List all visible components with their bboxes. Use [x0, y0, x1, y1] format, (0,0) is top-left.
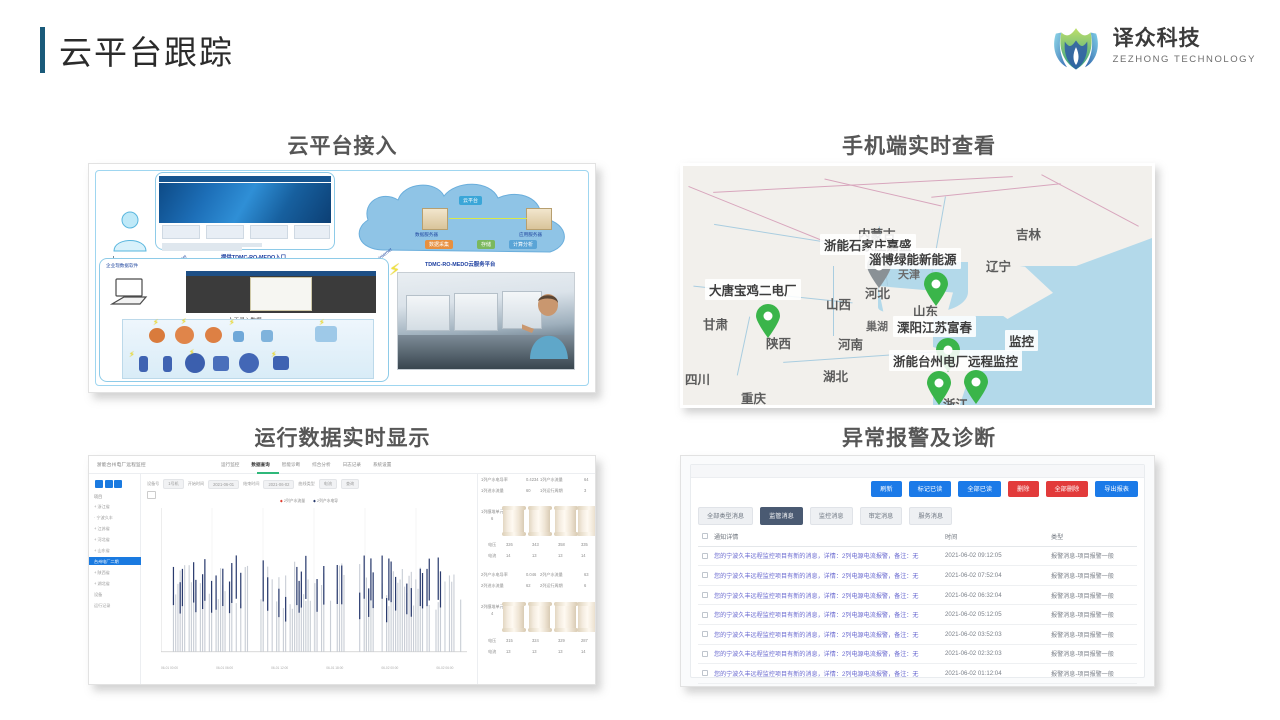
filter-type-select[interactable]: 电流 [319, 479, 337, 489]
metric-label-2: 1列进水流量 [481, 488, 504, 494]
tree-title: 项目 [94, 494, 102, 500]
chart-legend[interactable]: ◆ 2列产水流量 ◆ 2列产水电导 [280, 498, 338, 504]
table-header-row: 通知详情 时间 类型 [698, 527, 1137, 547]
row-detail-link[interactable]: 您的宁波久丰远程监控项目有新的消息，详情：2列电源电流报警，备注：无 [712, 551, 945, 560]
alarm-button-2[interactable]: 全部已读 [958, 481, 1001, 497]
stack2-current-3: 14 [581, 649, 586, 654]
chart-area: 设备号 1号机 开始时间 2021-06-01 结束时间 2021-06-02 … [141, 474, 477, 684]
enterprise-software-box: 企业现数据软件 人工录入数据 [99, 258, 389, 382]
stack1-voltage-0: 326 [506, 542, 513, 547]
stack2-current-1: 13 [532, 649, 537, 654]
row-type: 报警消息-项目报警一般 [1051, 649, 1137, 658]
table-row[interactable]: 您的宁波久丰远程监控项目有新的消息，详情：2列电源电流报警，备注：无2021-0… [698, 586, 1137, 606]
alarm-type-tabs[interactable]: 全部类型消息监管消息监控消息审定消息服务消息 [698, 507, 952, 525]
map-pin-icon-5[interactable] [926, 371, 952, 405]
sidebar-chip-2[interactable] [105, 480, 113, 488]
engineer-figure [522, 293, 568, 359]
row-checkbox-cell[interactable] [698, 651, 712, 657]
stack1-voltage-2: 358 [558, 542, 565, 547]
section-title-data: 运行数据实时显示 [85, 422, 600, 452]
filter-type-label: 曲线类型 [298, 481, 314, 487]
tree-item-9[interactable]: 运行记录 [94, 603, 110, 609]
metric-value-7: 6 [584, 583, 586, 588]
filter-start-label: 开始时间 [188, 481, 204, 487]
alarm-action-buttons[interactable]: 刷新标记已读全部已读删除全部删除导出报表 [871, 481, 1138, 497]
data-app-nav[interactable]: 运行监控数据查询智能诊断综合分析日志记录系统设置 [221, 462, 391, 468]
user-icon [109, 209, 151, 255]
map-province-12: 四川 [685, 369, 710, 388]
row-type: 报警消息-项目报警一般 [1051, 551, 1137, 560]
sidebar-chip-3[interactable] [114, 480, 122, 488]
stack2-voltage-3: 287 [581, 638, 588, 643]
stack2-voltage-2: 329 [558, 638, 565, 643]
tree-item-2[interactable]: + 江苏省 [94, 526, 110, 532]
row-detail-link[interactable]: 您的宁波久丰远程监控项目有新的消息，详情：2列电源电流报警，备注：无 [712, 610, 945, 619]
metric-label-6: 2列进水流量 [481, 583, 504, 589]
chart-xtick-5: 06-02 06:00 [436, 666, 453, 670]
legend-item-0: 2列产水流量 [284, 499, 305, 503]
chart-x-axis-ticks: 06-01 00:0006-01 06:0006-01 12:0006-01 1… [161, 666, 467, 680]
row-type: 报警消息-项目报警一般 [1051, 591, 1137, 600]
row-time: 2021-06-02 01:12:04 [945, 670, 1051, 677]
metric-label-1: 1列产水流量 [540, 477, 563, 483]
metric-value-4: 0.046 [526, 572, 536, 577]
column-header-time: 时间 [945, 532, 1051, 541]
metric-value-5: 63 [584, 572, 589, 577]
section-title-alarm: 异常报警及诊断 [680, 422, 1158, 452]
alarm-button-0[interactable]: 刷新 [871, 481, 901, 497]
chart-xtick-0: 06-01 00:00 [161, 666, 178, 670]
company-logo: 译众科技 ZEZHONG TECHNOLOGY [1048, 18, 1256, 74]
title-accent-bar [40, 27, 45, 73]
map-site-label-4[interactable]: 监控 [1005, 330, 1038, 351]
row-type: 报警消息-项目报警一般 [1051, 610, 1137, 619]
data-app-header: 浙能台州电厂远程监控 运行监控数据查询智能诊断综合分析日志记录系统设置 [89, 456, 595, 474]
row-time: 2021-06-02 09:12:05 [945, 552, 1051, 559]
title-text: 云平台跟踪 [59, 26, 234, 74]
data-nav-item-5[interactable]: 系统设置 [373, 462, 391, 468]
metric-label-5: 2列产水流量 [540, 572, 563, 578]
china-map: 内蒙古吉林辽宁河北山西甘肃陕西河南山东巢湖湖北重庆四川浙江天津 浙能石家庄嘉盛淄… [683, 166, 1152, 405]
mobile-map-screenshot: 内蒙古吉林辽宁河北山西甘肃陕西河南山东巢湖湖北重庆四川浙江天津 浙能石家庄嘉盛淄… [680, 163, 1155, 408]
metric-value-1: 64 [584, 477, 589, 482]
cloud-tag-2: 计算分析 [509, 240, 537, 249]
logo-company-name: 译众科技 [1113, 27, 1256, 51]
row-checkbox-cell[interactable] [698, 670, 712, 676]
stack2-current-label: 电流 [488, 649, 496, 655]
stack1-voltage-3: 335 [581, 542, 588, 547]
stack2-voltage-label: 电压 [488, 638, 496, 644]
chart-xtick-4: 06-02 00:00 [381, 666, 398, 670]
cloud-badge: 云平台 [459, 196, 482, 205]
stack1-current-label: 电流 [488, 553, 496, 559]
row-detail-link[interactable]: 您的宁波久丰远程监控项目有新的消息，详情：2列电源电流报警，备注：无 [712, 591, 945, 600]
operating-data-screenshot: 浙能台州电厂远程监控 运行监控数据查询智能诊断综合分析日志记录系统设置 项目 +… [88, 455, 596, 685]
metric-label-4: 2列产水电导率 [481, 572, 508, 578]
map-province-9: 巢湖 [866, 318, 888, 334]
stack2-voltage-0: 315 [506, 638, 513, 643]
cloud-server-tag-1: 数据服务器 [415, 232, 438, 238]
page-title: 云平台跟踪 [40, 26, 234, 74]
row-checkbox-cell[interactable] [698, 612, 712, 618]
stack1-current-3: 14 [581, 553, 586, 558]
map-province-1: 吉林 [1016, 224, 1041, 243]
alarm-panel-header [691, 465, 1144, 478]
table-row[interactable]: 您的宁波久丰远程监控项目有新的消息，详情：2列电源电流报警，备注：无2021-0… [698, 605, 1137, 625]
chart-tool-button[interactable] [147, 491, 156, 499]
data-app-brand: 浙能台州电厂远程监控 [97, 462, 146, 468]
map-province-7: 河南 [838, 334, 863, 353]
table-row[interactable]: 您的宁波久丰远程监控项目有新的消息，详情：2列电源电流报警，备注：无2021-0… [698, 664, 1137, 684]
portal-window [155, 172, 335, 250]
metric-value-0: 0.4234 [526, 477, 539, 482]
map-pin-icon-6[interactable] [963, 370, 989, 404]
tree-item-7[interactable]: + 湖北省 [94, 581, 110, 587]
stack2-current-2: 13 [558, 649, 563, 654]
control-room-photo [397, 272, 575, 370]
project-tree-sidebar[interactable]: 项目 + 浙江省· 宁波久丰+ 江苏省+ 河北省+ 山东省台州电厂二期+ 陕西省… [89, 474, 141, 684]
row-detail-link[interactable]: 您的宁波久丰远程监控项目有新的消息，详情：2列电源电流报警，备注：无 [712, 571, 945, 580]
data-nav-item-3[interactable]: 综合分析 [312, 462, 330, 468]
metric-label-0: 1列产水电导率 [481, 477, 508, 483]
metric-value-2: 60 [526, 488, 531, 493]
map-site-label-2[interactable]: 大唐宝鸡二电厂 [705, 279, 801, 300]
computer-icon [110, 277, 148, 307]
stack1-current-1: 13 [532, 553, 537, 558]
map-province-2: 辽宁 [986, 256, 1011, 275]
table-row[interactable]: 您的宁波久丰远程监控项目有新的消息，详情：2列电源电流报警，备注：无2021-0… [698, 645, 1137, 665]
column-header-detail: 通知详情 [712, 532, 945, 541]
chart-filter-bar[interactable]: 设备号 1号机 开始时间 2021-06-01 结束时间 2021-06-02 … [147, 479, 471, 489]
tree-item-1[interactable]: · 宁波久丰 [94, 515, 113, 521]
spike-chart: 706050403020100 [161, 508, 467, 662]
tree-item-6[interactable]: + 陕西省 [94, 570, 110, 576]
chart-xtick-2: 06-01 12:00 [271, 666, 288, 670]
lotus-logo-icon [1048, 18, 1104, 74]
stack1-voltage-1: 343 [532, 542, 539, 547]
alarm-button-1[interactable]: 标记已读 [909, 481, 952, 497]
row-time: 2021-06-02 05:12:05 [945, 611, 1051, 618]
metric-value-6: 62 [526, 583, 531, 588]
stack2-count: 4 [491, 611, 493, 616]
stack2-current-0: 13 [506, 649, 511, 654]
alarm-button-3[interactable]: 删除 [1008, 481, 1038, 497]
chart-xtick-1: 06-01 06:00 [216, 666, 233, 670]
filter-device-select[interactable]: 1号机 [163, 479, 183, 489]
table-row[interactable]: 您的宁波久丰远程监控项目有新的消息，详情：2列电源电流报警，备注：无2021-0… [698, 566, 1137, 586]
filter-query-button[interactable]: 查询 [341, 479, 359, 489]
cloud-platform-label: TDMC-RO-MEDO云服务平台 [425, 260, 495, 268]
row-type: 报警消息-项目报警一般 [1051, 630, 1137, 639]
metric-label-3: 1列运行周期 [540, 488, 563, 494]
map-province-11: 重庆 [741, 388, 766, 407]
filter-device-label: 设备号 [147, 481, 159, 487]
data-nav-item-2[interactable]: 智能诊断 [282, 462, 300, 468]
enterprise-screen [186, 271, 376, 313]
filter-start-input[interactable]: 2021-06-01 [208, 480, 239, 489]
stack1-title: 1列膜堆单元 [481, 509, 504, 515]
data-nav-item-1[interactable]: 数据查询 [251, 462, 269, 468]
filter-end-input[interactable]: 2021-06-02 [263, 480, 294, 489]
row-checkbox-cell[interactable] [698, 553, 712, 559]
alarm-button-5[interactable]: 导出报表 [1095, 481, 1138, 497]
row-time: 2021-06-02 06:32:04 [945, 592, 1051, 599]
column-header-type: 类型 [1051, 532, 1137, 541]
map-pin-icon-1[interactable] [923, 272, 949, 306]
cloud-architecture-screenshot: 用户/企业 提供TDMC-RO-MEDO入口 云平台 [88, 163, 596, 393]
tree-item-3[interactable]: + 河北省 [94, 537, 110, 543]
metrics-panel: 1列产水电导率0.42341列产水流量641列进水流量601列运行周期32列产水… [477, 474, 595, 684]
row-detail-link[interactable]: 您的宁波久丰远程监控项目有新的消息，详情：2列电源电流报警，备注：无 [712, 649, 945, 658]
tree-item-5[interactable]: 台州电厂二期 [94, 559, 119, 565]
stack2-title: 2列膜堆单元 [481, 604, 504, 610]
metric-label-7: 2列运行周期 [540, 583, 563, 589]
row-time: 2021-06-02 07:52:04 [945, 572, 1051, 579]
stack1-count: 6 [491, 516, 493, 521]
table-row[interactable]: 您的宁波久丰远程监控项目有新的消息，详情：2列电源电流报警，备注：无2021-0… [698, 547, 1137, 567]
stack1-current-0: 14 [506, 553, 511, 558]
map-site-label-5[interactable]: 浙能台州电厂远程监控 [889, 350, 1022, 371]
row-time: 2021-06-02 03:52:03 [945, 631, 1051, 638]
process-flow-diagram: ⚡ ⚡ ⚡ ⚡ ⚡ ⚡ ⚡ [122, 319, 374, 379]
data-nav-item-4[interactable]: 日志记录 [343, 462, 361, 468]
tree-item-4[interactable]: + 山东省 [94, 548, 110, 554]
section-title-cloud: 云平台接入 [85, 130, 600, 160]
row-time: 2021-06-02 02:32:03 [945, 650, 1051, 657]
logo-company-name-en: ZEZHONG TECHNOLOGY [1113, 54, 1256, 65]
sidebar-chip-1[interactable] [95, 480, 103, 488]
filter-end-label: 结束时间 [243, 481, 259, 487]
alarm-tab-3[interactable]: 审定消息 [860, 507, 903, 525]
cloud-tag-1: 存储 [477, 240, 495, 249]
map-site-label-3[interactable]: 溧阳江苏富春 [893, 316, 976, 337]
row-checkbox-cell[interactable] [698, 592, 712, 598]
map-province-5: 甘肃 [703, 314, 728, 333]
row-detail-link[interactable]: 您的宁波久丰远程监控项目有新的消息，详情：2列电源电流报警，备注：无 [712, 669, 945, 678]
alarm-button-4[interactable]: 全部删除 [1046, 481, 1089, 497]
alarm-table: 通知详情 时间 类型 您的宁波久丰远程监控项目有新的消息，详情：2列电源电流报警… [698, 527, 1137, 673]
row-checkbox-cell[interactable] [698, 631, 712, 637]
table-row[interactable]: 您的宁波久丰远程监控项目有新的消息，详情：2列电源电流报警，备注：无2021-0… [698, 625, 1137, 645]
tree-item-0[interactable]: + 浙江省 [94, 504, 110, 510]
row-type: 报警消息-项目报警一般 [1051, 669, 1137, 678]
row-type: 报警消息-项目报警一般 [1051, 571, 1137, 580]
cloud-label-enterprise: 企业现数据软件 [106, 263, 138, 269]
legend-item-1: 2列产水电导 [317, 499, 338, 503]
chart-xtick-3: 06-01 18:00 [326, 666, 343, 670]
stack2-voltage-1: 324 [532, 638, 539, 643]
row-checkbox-cell[interactable] [698, 572, 712, 578]
select-all-checkbox-cell[interactable] [698, 533, 712, 539]
stack1-current-2: 13 [558, 553, 563, 558]
sidebar-chip-group[interactable] [95, 480, 122, 488]
map-site-label-1[interactable]: 淄博绿能新能源 [865, 248, 961, 269]
alarm-tab-2[interactable]: 监控消息 [810, 507, 853, 525]
tree-item-8[interactable]: 设备 [94, 592, 102, 598]
slide-root: 云平台跟踪 译众科技 ZEZHONG TECHNOLOGY [0, 0, 1280, 720]
map-pin-icon-2[interactable] [755, 304, 781, 338]
row-detail-link[interactable]: 您的宁波久丰远程监控项目有新的消息，详情：2列电源电流报警，备注：无 [712, 630, 945, 639]
stack1-voltage-label: 电压 [488, 542, 496, 548]
metric-value-3: 3 [584, 488, 586, 493]
map-province-4: 山西 [826, 294, 851, 313]
map-province-10: 湖北 [823, 366, 848, 385]
data-nav-item-0[interactable]: 运行监控 [221, 462, 239, 468]
alarm-list-screenshot: 刷新标记已读全部已读删除全部删除导出报表 全部类型消息监管消息监控消息审定消息服… [680, 455, 1155, 687]
cloud-server-tag-2: 应用服务器 [519, 232, 542, 238]
alarm-tab-4[interactable]: 服务消息 [909, 507, 952, 525]
section-title-mobile: 手机端实时查看 [680, 130, 1158, 160]
alarm-tab-0[interactable]: 全部类型消息 [698, 507, 753, 525]
cloud-tag-0: 数据采集 [425, 240, 453, 249]
alarm-tab-1[interactable]: 监管消息 [760, 507, 803, 525]
